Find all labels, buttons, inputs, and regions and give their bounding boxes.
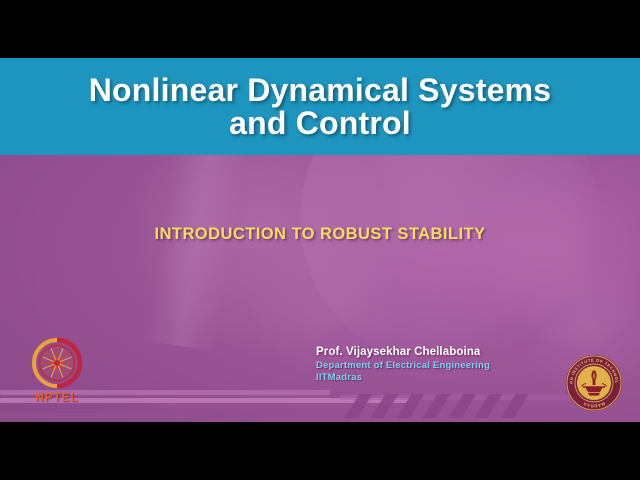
presenter-name: Prof. Vijaysekhar Chellaboina — [316, 345, 490, 360]
presenter-credits: Prof. Vijaysekhar Chellaboina Department… — [316, 345, 490, 384]
decor-dot-1 — [316, 398, 319, 401]
iit-madras-seal-icon: INDIAN INSTITUTE OF TECHNOLOGY MADRAS — [565, 354, 623, 412]
decorative-band — [0, 386, 640, 422]
iit-madras-seal: INDIAN INSTITUTE OF TECHNOLOGY MADRAS — [565, 354, 623, 412]
presenter-institute: IITMadras — [316, 372, 490, 384]
decor-bar-6 — [340, 395, 570, 400]
lecture-title: INTRODUCTION TO ROBUST STABILITY — [0, 225, 640, 244]
nptel-logo: NPTEL — [22, 335, 92, 407]
letterbox-top — [0, 0, 640, 58]
course-title-banner: Nonlinear Dynamical Systems and Control — [0, 58, 640, 155]
course-title: Nonlinear Dynamical Systems and Control — [75, 74, 565, 140]
presenter-department: Department of Electrical Engineering — [316, 360, 490, 372]
decor-dot-2 — [323, 398, 326, 401]
nptel-ring-icon — [29, 335, 85, 391]
background-bokeh-3 — [470, 153, 640, 353]
letterbox-bottom — [0, 422, 640, 480]
decor-bar-4 — [0, 413, 185, 418]
video-frame: Nonlinear Dynamical Systems and Control … — [0, 0, 640, 480]
decor-bar-3 — [160, 403, 360, 408]
decor-dot-3 — [330, 398, 333, 401]
nptel-wordmark: NPTEL — [22, 392, 92, 404]
